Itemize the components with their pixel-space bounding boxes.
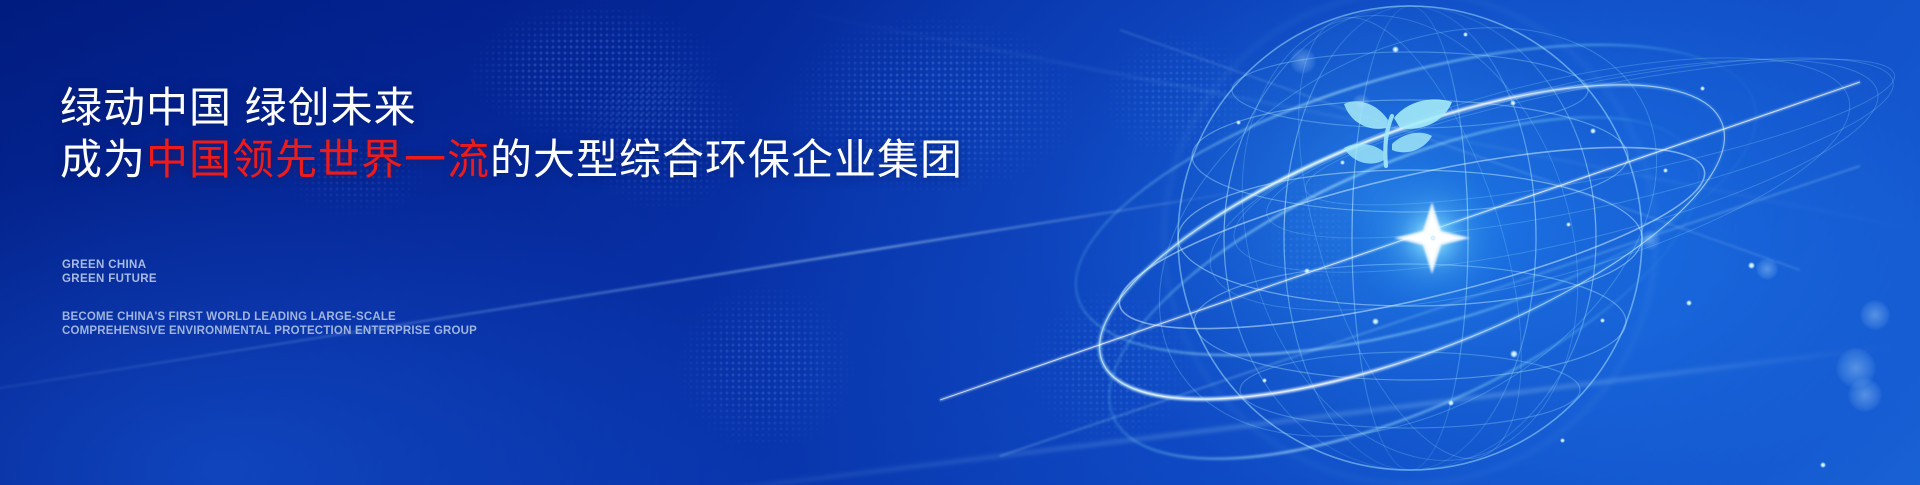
particle-icon — [1600, 318, 1605, 323]
bokeh-icon — [1836, 348, 1876, 388]
headline-line-1: 绿动中国 绿创未来 — [60, 84, 417, 132]
particle-icon — [1236, 120, 1241, 125]
globe-trailing-rings — [1186, 6, 1905, 362]
globe-meridian-lines-tilted — [1187, 0, 1632, 485]
particle-icon — [1430, 235, 1436, 241]
particle-icon — [1590, 128, 1596, 134]
particle-icon — [1392, 46, 1399, 53]
bokeh-icon — [1290, 48, 1316, 74]
bokeh-icon — [1756, 258, 1778, 280]
headline-line-2: 成为中国领先世界一流的大型综合环保企业集团 — [60, 136, 963, 184]
globe-meridian-lines — [1224, 6, 1596, 470]
particle-icon — [1820, 462, 1826, 468]
hero-banner: 绿动中国 绿创未来 成为中国领先世界一流的大型综合环保企业集团 GREEN CH… — [0, 0, 1920, 485]
headline-prefix: 成为 — [60, 136, 146, 183]
slogan-english-line-1: GREEN CHINA — [62, 258, 157, 272]
tagline-english-line-2: COMPREHENSIVE ENVIRONMENTAL PROTECTION E… — [62, 324, 477, 338]
particle-icon — [1510, 350, 1518, 358]
bokeh-icon — [1352, 94, 1370, 112]
particle-icon — [1700, 86, 1705, 91]
particle-icon — [1686, 300, 1692, 306]
slogan-english: GREEN CHINA GREEN FUTURE — [62, 258, 157, 286]
particle-icon — [1372, 318, 1379, 325]
world-map-dots-east-asia — [1060, 10, 1300, 190]
tagline-english-line-1: BECOME CHINA'S FIRST WORLD LEADING LARGE… — [62, 310, 477, 324]
particle-icon — [1304, 268, 1310, 274]
particle-icon — [1510, 100, 1516, 106]
globe-sphere-body — [1178, 6, 1642, 470]
particle-icon — [1566, 222, 1571, 227]
globe-light-beams — [940, 30, 1860, 456]
headline-accent: 中国领先世界一流 — [146, 136, 490, 183]
particle-icon — [1262, 378, 1267, 383]
tagline-english: BECOME CHINA'S FIRST WORLD LEADING LARGE… — [62, 310, 477, 338]
bokeh-icon — [1860, 300, 1890, 330]
bokeh-icon — [1848, 378, 1882, 412]
particle-icon — [1463, 32, 1468, 37]
particle-icon — [1340, 160, 1345, 165]
slogan-english-line-2: GREEN FUTURE — [62, 272, 157, 286]
particle-icon — [1560, 438, 1565, 443]
globe-outline — [1178, 6, 1642, 470]
particle-icon — [1663, 168, 1668, 173]
bokeh-icon — [1640, 230, 1660, 250]
banner-copy: 绿动中国 绿创未来 成为中国领先世界一流的大型综合环保企业集团 GREEN CH… — [60, 0, 1040, 485]
globe-graphic — [1060, 0, 1860, 485]
sprout-icon — [1344, 99, 1452, 166]
globe-sphere-halo — [1164, 0, 1656, 484]
particle-icon — [1448, 400, 1454, 406]
globe-orbit-rings — [1043, 0, 1789, 485]
particle-icon — [1748, 262, 1755, 269]
globe-center-burst — [1356, 162, 1508, 314]
headline-suffix: 的大型综合环保企业集团 — [490, 136, 963, 183]
world-map-dots-pacific — [1258, 140, 1408, 370]
globe-latitude-lines — [1178, 52, 1642, 428]
